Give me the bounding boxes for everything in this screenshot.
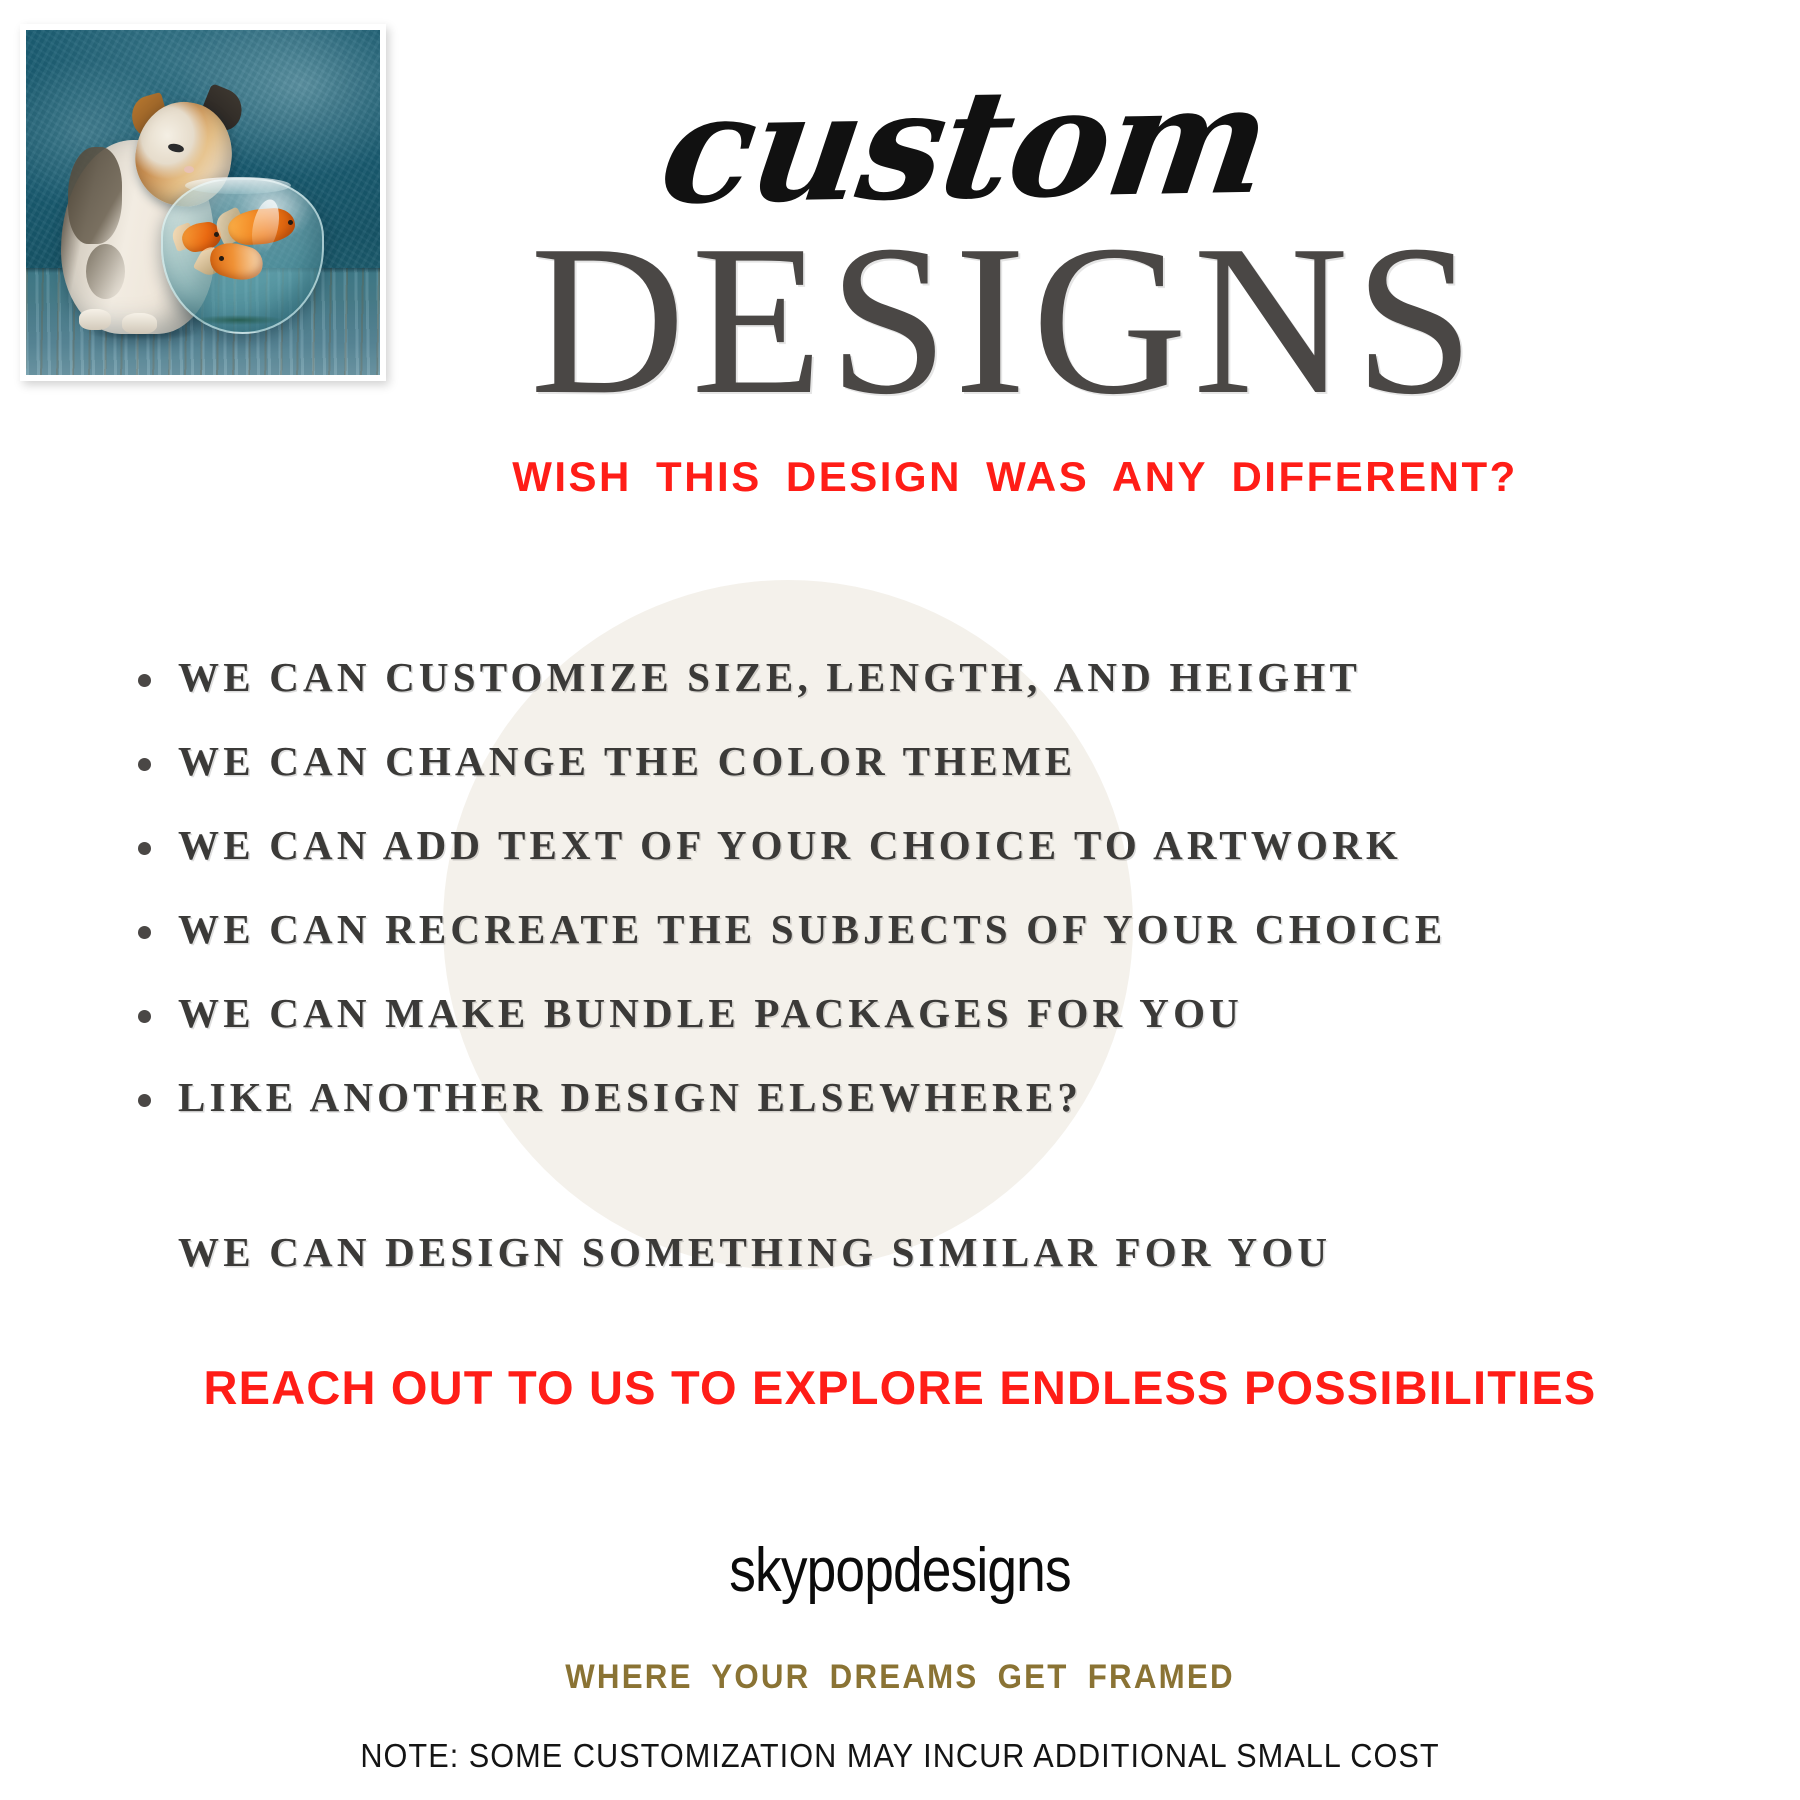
call-to-action-text: REACH OUT TO US TO EXPLORE ENDLESS POSSI… — [0, 1360, 1800, 1415]
benefit-item: WE CAN CHANGE THE COLOR THEME — [120, 739, 1740, 785]
fishbowl-base-shadow — [175, 313, 302, 327]
cat-paw — [79, 309, 111, 330]
benefit-item: WE CAN ADD TEXT OF YOUR CHOICE TO ARTWOR… — [120, 823, 1740, 869]
headline-question: WISH THIS DESIGN WAS ANY DIFFERENT? — [300, 453, 1730, 501]
headline-main-word: DESIGNS — [280, 212, 1730, 427]
benefit-item: LIKE ANOTHER DESIGN ELSEWHERE? — [120, 1075, 1740, 1121]
headline-script-word: custom — [187, 57, 1742, 234]
headline-block: custom DESIGNS WISH THIS DESIGN WAS ANY … — [400, 70, 1730, 501]
goldfish-eye — [219, 256, 224, 261]
artwork-canvas — [26, 30, 380, 375]
fishbowl-rim — [185, 177, 291, 194]
brand-tagline: WHERE YOUR DREAMS GET FRAMED — [72, 1658, 1728, 1697]
cat-paw — [122, 313, 157, 334]
artwork-thumbnail[interactable] — [20, 24, 386, 381]
goldfish-eye — [288, 220, 293, 225]
benefit-item: WE CAN MAKE BUNDLE PACKAGES FOR YOU — [120, 991, 1740, 1037]
cat-stripe — [68, 147, 121, 244]
benefit-item: WE CAN CUSTOMIZE SIZE, LENGTH, AND HEIGH… — [120, 655, 1740, 701]
cat-stripe — [86, 244, 125, 299]
benefit-continuation-line: WE CAN DESIGN SOMETHING SIMILAR FOR YOU — [178, 1228, 1331, 1276]
fine-print-note: NOTE: SOME CUSTOMIZATION MAY INCUR ADDIT… — [63, 1737, 1737, 1775]
benefit-item: WE CAN RECREATE THE SUBJECTS OF YOUR CHO… — [120, 907, 1740, 953]
benefits-list: WE CAN CUSTOMIZE SIZE, LENGTH, AND HEIGH… — [120, 655, 1740, 1158]
brand-logo: skypopdesigns — [126, 1535, 1674, 1606]
